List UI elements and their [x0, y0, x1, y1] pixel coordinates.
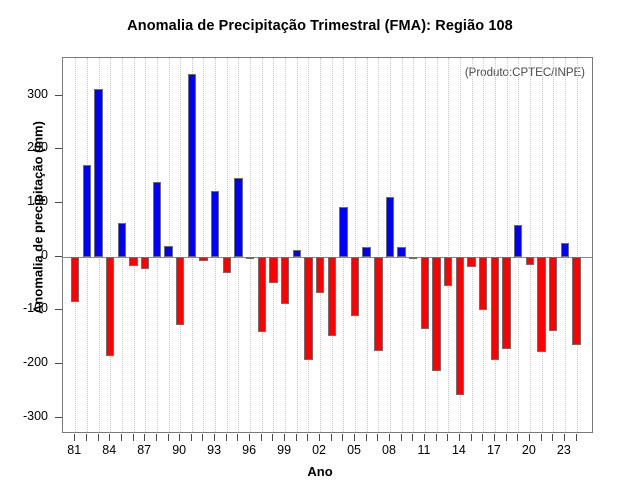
grid-line [320, 58, 321, 432]
bar [456, 257, 464, 396]
y-tick-label: 300 [0, 87, 48, 101]
grid-line [297, 58, 298, 432]
x-tick-mark [109, 434, 110, 441]
x-tick-mark [541, 434, 542, 441]
x-tick-mark [214, 434, 215, 441]
grid-line [285, 58, 286, 432]
bar [141, 257, 149, 269]
grid-line [250, 58, 251, 432]
grid-line [483, 58, 484, 432]
grid-line [553, 58, 554, 432]
y-tick-label: -100 [0, 301, 48, 315]
x-tick-mark [319, 434, 320, 441]
bar [549, 257, 557, 331]
bar [374, 257, 382, 351]
bar [188, 74, 196, 257]
x-tick-mark [74, 434, 75, 441]
x-axis-title: Ano [0, 464, 640, 479]
bar [351, 257, 359, 316]
y-tick-mark [55, 417, 62, 418]
y-tick-label: 0 [0, 248, 48, 262]
x-tick-mark [98, 434, 99, 441]
x-tick-mark [202, 434, 203, 441]
x-tick-mark [261, 434, 262, 441]
grid-line [145, 58, 146, 432]
grid-line [203, 58, 204, 432]
x-tick-mark [517, 434, 518, 441]
bar [269, 257, 277, 283]
bar [223, 257, 231, 273]
x-tick-mark [506, 434, 507, 441]
grid-line [577, 58, 578, 432]
bar [537, 257, 545, 353]
y-tick-label: 200 [0, 140, 48, 154]
chart-title: Anomalia de Precipitação Trimestral (FMA… [0, 18, 640, 34]
grid-line [495, 58, 496, 432]
x-tick-mark [377, 434, 378, 441]
bar [176, 257, 184, 326]
x-tick-mark [447, 434, 448, 441]
grid-line [273, 58, 274, 432]
x-tick-mark [564, 434, 565, 441]
bar [432, 257, 440, 371]
bar [199, 257, 207, 261]
x-tick-mark [284, 434, 285, 441]
grid-line [530, 58, 531, 432]
bar [71, 257, 79, 303]
x-tick-mark [366, 434, 367, 441]
y-tick-label: -300 [0, 409, 48, 423]
bar [514, 225, 522, 257]
bar [129, 257, 137, 267]
x-tick-mark [436, 434, 437, 441]
bar [118, 223, 126, 257]
grid-line [367, 58, 368, 432]
y-axis-title: Anomalia de precipitação (mm) [31, 68, 46, 368]
y-tick-label: -200 [0, 355, 48, 369]
y-tick-mark [55, 363, 62, 364]
y-tick-mark [55, 256, 62, 257]
grid-line [542, 58, 543, 432]
grid-line [308, 58, 309, 432]
x-tick-mark [133, 434, 134, 441]
grid-line [448, 58, 449, 432]
bar [467, 257, 475, 268]
x-tick-mark [576, 434, 577, 441]
bar [316, 257, 324, 294]
bar [421, 257, 429, 330]
x-tick-mark [307, 434, 308, 441]
x-tick-mark [529, 434, 530, 441]
y-tick-label: 100 [0, 194, 48, 208]
bar [234, 178, 242, 256]
grid-line [378, 58, 379, 432]
x-tick-mark [354, 434, 355, 441]
x-tick-mark [342, 434, 343, 441]
bar [502, 257, 510, 349]
plot-area: (Produto:CPTEC/INPE) [62, 57, 593, 433]
bar [246, 257, 254, 259]
x-tick-mark [144, 434, 145, 441]
bar [304, 257, 312, 361]
x-tick-mark [471, 434, 472, 441]
grid-line [169, 58, 170, 432]
grid-line [75, 58, 76, 432]
x-tick-label: 23 [544, 443, 584, 457]
x-tick-mark [168, 434, 169, 441]
y-tick-mark [55, 202, 62, 203]
x-tick-mark [226, 434, 227, 441]
y-tick-mark [55, 309, 62, 310]
x-tick-mark [552, 434, 553, 441]
x-tick-mark [249, 434, 250, 441]
grid-line [134, 58, 135, 432]
grid-line [332, 58, 333, 432]
x-tick-mark [331, 434, 332, 441]
bar [211, 191, 219, 257]
y-tick-mark [55, 148, 62, 149]
bar [339, 207, 347, 256]
grid-line [227, 58, 228, 432]
x-tick-mark [121, 434, 122, 441]
x-tick-mark [156, 434, 157, 441]
y-tick-mark [55, 95, 62, 96]
grid-line [180, 58, 181, 432]
bar [94, 89, 102, 257]
grid-line [402, 58, 403, 432]
bar [409, 257, 417, 259]
bar [153, 182, 161, 257]
precipitation-anomaly-chart: Anomalia de Precipitação Trimestral (FMA… [0, 0, 640, 500]
bar [281, 257, 289, 304]
x-tick-mark [179, 434, 180, 441]
x-tick-mark [412, 434, 413, 441]
bar [328, 257, 336, 337]
grid-line [262, 58, 263, 432]
grid-line [413, 58, 414, 432]
bar [444, 257, 452, 287]
grid-line [437, 58, 438, 432]
x-tick-mark [482, 434, 483, 441]
bar [83, 165, 91, 256]
bar [572, 257, 580, 346]
x-tick-mark [424, 434, 425, 441]
grid-line [507, 58, 508, 432]
bar [293, 250, 301, 256]
bar [362, 247, 370, 257]
x-tick-mark [86, 434, 87, 441]
x-tick-mark [296, 434, 297, 441]
x-tick-mark [459, 434, 460, 441]
bar [386, 197, 394, 257]
bar [561, 243, 569, 257]
grid-line [472, 58, 473, 432]
grid-line [110, 58, 111, 432]
grid-line [425, 58, 426, 432]
x-tick-mark [494, 434, 495, 441]
bar [164, 246, 172, 257]
bar [491, 257, 499, 361]
bar [397, 247, 405, 257]
x-tick-mark [401, 434, 402, 441]
x-tick-mark [272, 434, 273, 441]
x-tick-mark [237, 434, 238, 441]
bar [106, 257, 114, 356]
bar [258, 257, 266, 332]
bar [479, 257, 487, 311]
grid-line [355, 58, 356, 432]
x-tick-mark [191, 434, 192, 441]
bar [526, 257, 534, 265]
x-tick-mark [389, 434, 390, 441]
